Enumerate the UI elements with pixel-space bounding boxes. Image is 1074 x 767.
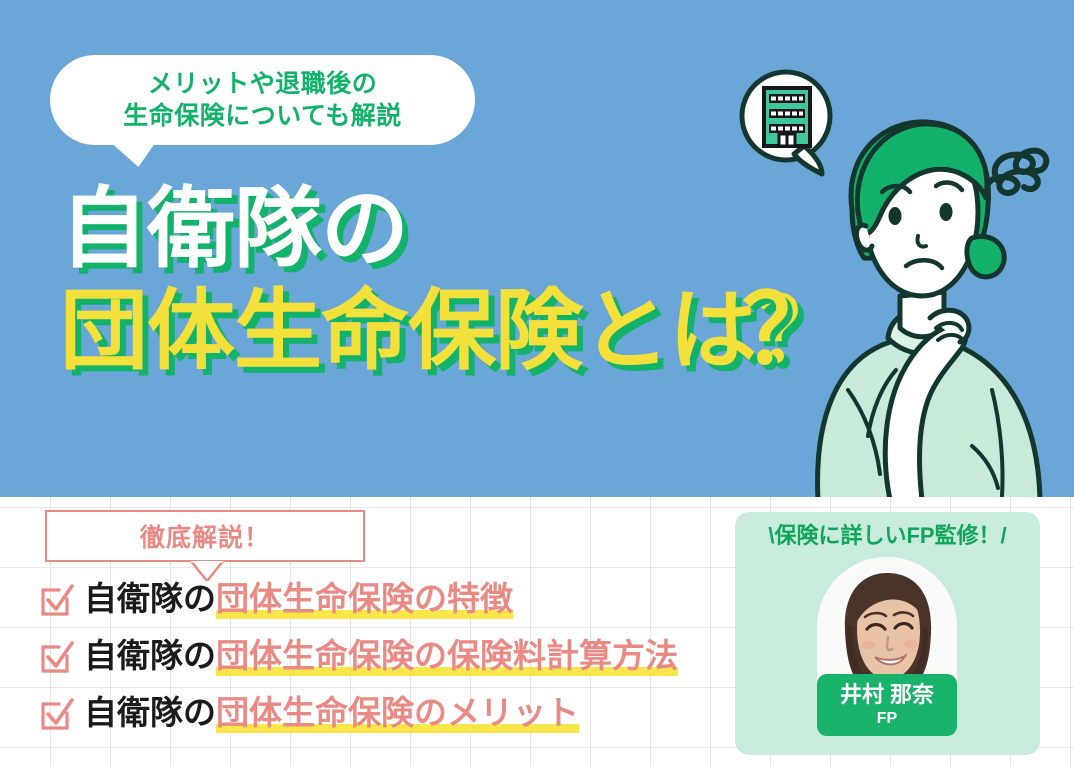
list-item-highlight: 団体生命保険の特徴 — [216, 580, 513, 619]
checklist-section: 徹底解説！ 自衛隊の団体生命保険の特徴 — [0, 497, 720, 767]
list-item-highlight: 団体生命保険の保険料計算方法 — [216, 637, 678, 676]
list-item[interactable]: 自衛隊の団体生命保険の特徴 — [40, 581, 513, 617]
title-line-1: 自衛隊の — [60, 185, 843, 273]
article-header-banner: メリットや退職後の 生命保険についても解説 自衛隊の 団体生命保険とは？ ？ — [0, 0, 1074, 767]
hero-section: メリットや退職後の 生命保険についても解説 自衛隊の 団体生命保険とは？ ？ — [0, 0, 1074, 497]
fp-supervisor-card: \保険に詳しいFP監修！/ — [735, 512, 1040, 755]
kaisetsu-banner: 徹底解説！ — [45, 510, 365, 562]
title-line-2: 団体生命保険とは？ — [60, 287, 843, 375]
kaisetsu-banner-tail — [190, 561, 224, 581]
fp-role: FP — [877, 709, 897, 728]
fp-name: 井村 那奈 — [840, 682, 934, 707]
list-item[interactable]: 自衛隊の団体生命保険のメリット — [40, 695, 579, 731]
list-item-prefix: 自衛隊の — [84, 580, 216, 617]
thinking-woman-illustration — [740, 60, 1070, 497]
list-item-highlight: 団体生命保険のメリット — [216, 694, 579, 733]
list-item-prefix: 自衛隊の — [84, 637, 216, 674]
page-title: 自衛隊の 団体生命保険とは？ — [60, 185, 843, 375]
list-item[interactable]: 自衛隊の団体生命保険の保険料計算方法 — [40, 638, 678, 674]
list-item-prefix: 自衛隊の — [84, 694, 216, 731]
speech-bubble-text: メリットや退職後の 生命保険についても解説 — [123, 68, 402, 132]
fp-name-badge: 井村 那奈 FP — [817, 674, 957, 736]
fp-card-header: \保険に詳しいFP監修！/ — [735, 518, 1040, 550]
kaisetsu-banner-label: 徹底解説！ — [140, 518, 270, 554]
checkbox-checked-icon — [40, 640, 74, 674]
speech-bubble: メリットや退職後の 生命保険についても解説 — [50, 55, 475, 145]
checkbox-checked-icon — [40, 697, 74, 731]
checkbox-checked-icon — [40, 583, 74, 617]
